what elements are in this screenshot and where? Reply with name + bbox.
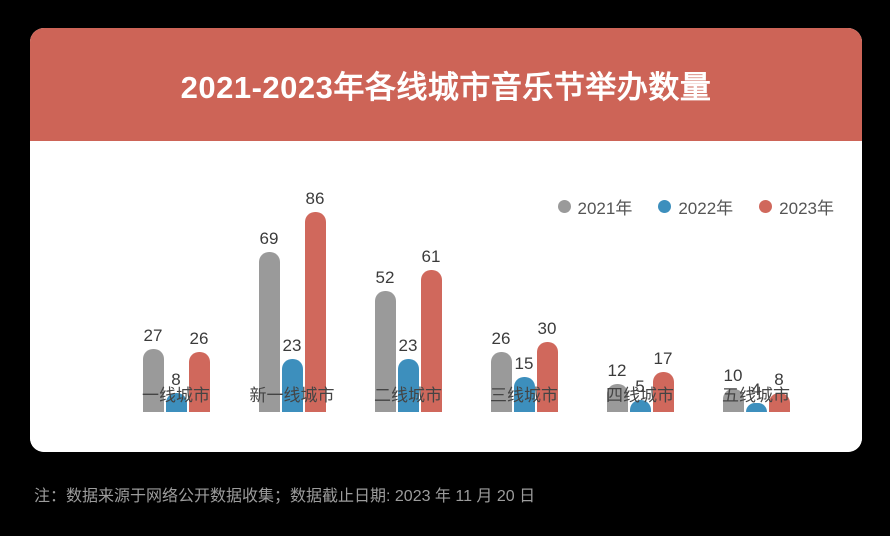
chart-card: 2021-2023年各线城市音乐节举办数量 2021年2022年2023年 27… — [30, 28, 862, 452]
chart-header-band: 2021-2023年各线城市音乐节举办数量 — [30, 28, 862, 141]
screenshot-stage: 2021-2023年各线城市音乐节举办数量 2021年2022年2023年 27… — [0, 0, 890, 536]
bar-group-三线城市: 261530三线城市 — [466, 181, 582, 412]
chart-plot-area: 2021年2022年2023年 27826一线城市692386新一线城市5223… — [30, 141, 862, 452]
x-axis-label-五线城市: 五线城市 — [698, 381, 814, 406]
bar-group-五线城市: 1048五线城市 — [698, 181, 814, 412]
bar-value-label: 26 — [179, 329, 219, 349]
bar-group-四线城市: 12517四线城市 — [582, 181, 698, 412]
bar-value-label: 61 — [411, 247, 451, 267]
page-title: 2021-2023年各线城市音乐节举办数量 — [181, 62, 712, 107]
bar-value-label: 17 — [643, 349, 683, 369]
bar-group-一线城市: 27826一线城市 — [118, 181, 234, 412]
bar-value-label: 30 — [527, 319, 567, 339]
bar-value-label: 86 — [295, 189, 335, 209]
bar-group-新一线城市: 692386新一线城市 — [234, 181, 350, 412]
x-axis-label-新一线城市: 新一线城市 — [234, 381, 350, 406]
bar-group-二线城市: 522361二线城市 — [350, 181, 466, 412]
x-axis-label-一线城市: 一线城市 — [118, 381, 234, 406]
x-axis-label-三线城市: 三线城市 — [466, 381, 582, 406]
x-axis-label-四线城市: 四线城市 — [582, 381, 698, 406]
chart-footnote: 注：数据来源于网络公开数据收集；数据截止日期: 2023 年 11 月 20 日 — [34, 482, 535, 506]
x-axis-label-二线城市: 二线城市 — [350, 381, 466, 406]
bar-groups-layer: 27826一线城市692386新一线城市522361二线城市261530三线城市… — [30, 141, 862, 452]
